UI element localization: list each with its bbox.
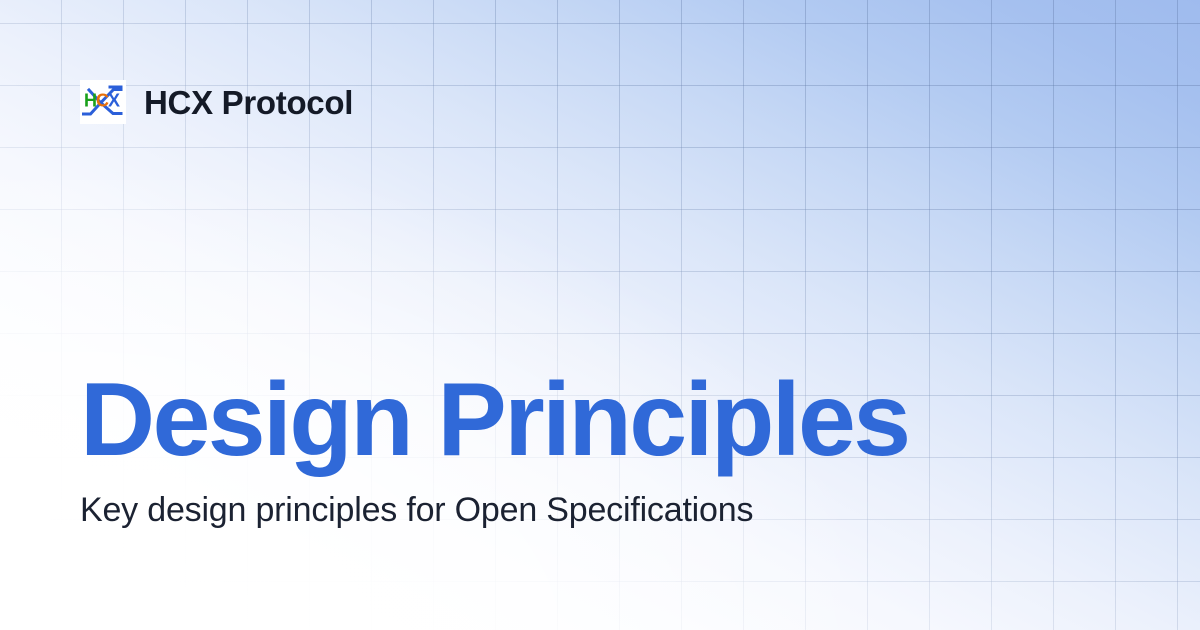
page-subtitle: Key design principles for Open Specifica… — [80, 490, 1120, 531]
hero-section: Design Principles Key design principles … — [80, 368, 1120, 531]
brand-header: H C X HCX Protocol — [80, 80, 353, 124]
svg-text:X: X — [108, 91, 120, 111]
hcx-logo-icon: H C X — [80, 80, 126, 124]
page-title: Design Principles — [80, 368, 1120, 472]
brand-name: HCX Protocol — [144, 86, 353, 119]
social-card: H C X HCX Protocol Design Principles Key… — [0, 0, 1200, 630]
